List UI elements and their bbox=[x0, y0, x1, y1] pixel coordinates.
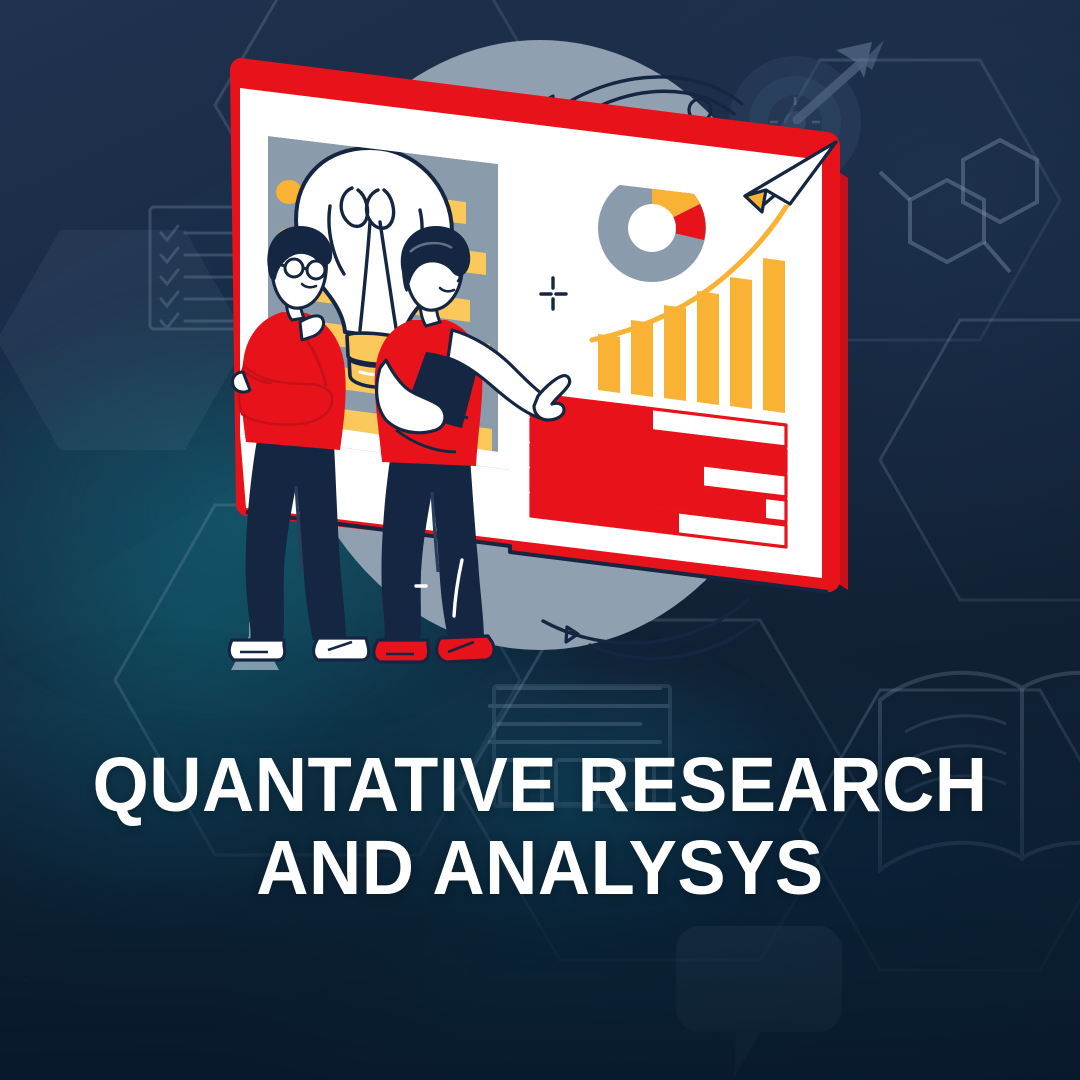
poster-title: QUANTATIVE RESEARCH AND ANALYSYS bbox=[0, 744, 1080, 910]
main-illustration bbox=[0, 0, 1080, 1080]
title-line-2: AND ANALYSYS bbox=[32, 827, 1047, 910]
title-line-1: QUANTATIVE RESEARCH bbox=[32, 744, 1047, 827]
poster-canvas: QUANTATIVE RESEARCH AND ANALYSYS bbox=[0, 0, 1080, 1080]
